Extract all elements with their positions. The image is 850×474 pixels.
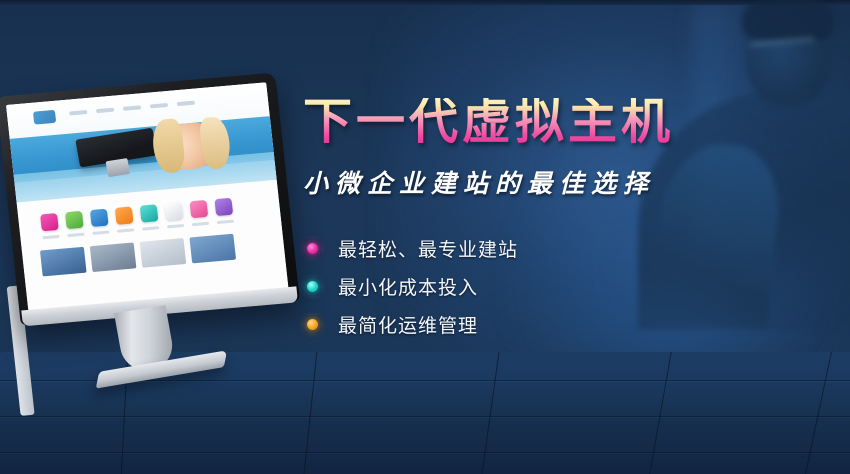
banner-headline: 下一代虚拟主机: [303, 98, 773, 148]
menu-item: [177, 101, 195, 107]
monitor-screen: [6, 82, 288, 311]
menu-item: [96, 108, 114, 114]
icon-label: [217, 220, 234, 224]
website-menu: [69, 101, 195, 116]
feature-item: 最简化运维管理: [303, 306, 773, 344]
icon-label: [167, 224, 184, 228]
feature-list: 最轻松、最专业建站 最小化成本投入 最简化运维管理: [303, 230, 773, 344]
menu-item: [69, 110, 87, 116]
icon-label: [192, 222, 209, 226]
floor-tile-line: [649, 352, 672, 474]
website-preview: [6, 82, 288, 311]
site-logo-icon: [33, 110, 56, 125]
feature-item: 最轻松、最专业建站: [303, 230, 773, 268]
menu-item: [150, 103, 168, 109]
monitor-bezel: [0, 72, 300, 325]
app-icon: [90, 209, 109, 227]
thumbnail: [140, 238, 187, 268]
floor-seam: [0, 416, 850, 417]
magenta-dot-icon: [303, 239, 322, 258]
feature-label: 最轻松、最专业建站: [338, 235, 518, 262]
icon-label: [117, 228, 134, 232]
feature-item: 最小化成本投入: [303, 268, 773, 306]
menu-item: [123, 105, 141, 111]
app-icon: [214, 198, 233, 216]
person-hair: [742, 0, 834, 42]
website-app-icons: [40, 198, 233, 232]
app-icon: [115, 206, 134, 224]
website-thumbnails: [40, 234, 236, 277]
floor-tile-line: [304, 352, 318, 474]
floor-tile-line: [805, 352, 832, 474]
app-icon: [190, 200, 209, 218]
promo-banner: 下一代虚拟主机 小微企业建站的最佳选择 最轻松、最专业建站 最小化成本投入 最简…: [0, 0, 850, 474]
woman-portrait-photo: [159, 121, 220, 172]
feature-label: 最小化成本投入: [338, 273, 478, 300]
app-icon: [165, 202, 184, 220]
feature-label: 最简化运维管理: [338, 311, 478, 338]
amber-dot-icon: [303, 315, 322, 334]
thumbnail: [189, 234, 236, 264]
thumbnail: [40, 247, 87, 277]
icon-label: [42, 235, 59, 239]
icon-label: [92, 230, 109, 234]
app-icon: [65, 211, 84, 229]
icon-label: [142, 226, 159, 230]
icon-label: [67, 233, 84, 237]
banner-subheadline: 小微企业建站的最佳选择: [303, 164, 773, 200]
app-icon: [40, 213, 59, 231]
banner-copy: 下一代虚拟主机 小微企业建站的最佳选择 最轻松、最专业建站 最小化成本投入 最简…: [303, 98, 773, 344]
cyan-dot-icon: [303, 277, 322, 296]
app-icon: [140, 204, 159, 222]
floor-tile-line: [481, 352, 499, 474]
thumbnail: [90, 242, 137, 272]
floor-seam: [0, 452, 850, 453]
desktop-monitor: [0, 72, 300, 325]
